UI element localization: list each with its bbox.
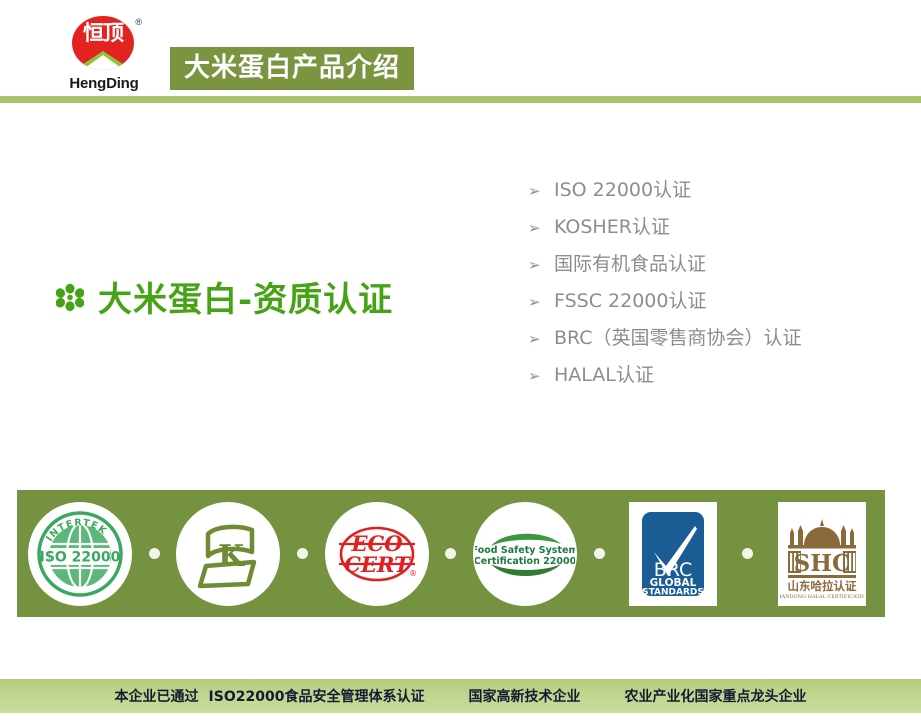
certification-badge-band: ISO 22000 INTERTEK K — [17, 490, 885, 617]
brc-global-standards-badge: BRC GLOBAL STANDARDS — [629, 502, 717, 606]
kosher-letter-k: K — [218, 539, 245, 574]
fssc-line1: Food Safety System — [475, 545, 575, 556]
dot-separator-icon — [588, 548, 610, 559]
certification-label: ISO 22000认证 — [554, 172, 691, 209]
list-item: ➢ FSSC 22000认证 — [528, 283, 898, 320]
fssc-22000-badge: Food Safety System Certification 22000 — [473, 502, 577, 606]
footer-item-3: 农业产业化国家重点龙头企业 — [624, 686, 806, 706]
logo-wordmark: HengDing — [52, 75, 156, 92]
page-title: 大米蛋白产品介绍 — [184, 47, 400, 90]
dot-separator-icon — [292, 548, 314, 559]
footer-item-2: 国家高新技术企业 — [468, 686, 580, 706]
certification-label: 国际有机食品认证 — [554, 246, 706, 283]
header-divider — [0, 96, 921, 103]
badge-slot-iso22000: ISO 22000 INTERTEK — [17, 490, 143, 617]
shc-line3: SHANDONG HALAL CERTIFICATION — [780, 594, 864, 600]
badge-slot-ecocert: ECO CERT ® — [314, 490, 440, 617]
dot-separator-icon — [440, 548, 462, 559]
dot-separator-icon — [737, 548, 759, 559]
arrow-bullet-icon: ➢ — [528, 358, 554, 395]
logo-red-circle: 恒顶 — [72, 16, 134, 70]
list-item: ➢ BRC（英国零售商协会）认证 — [528, 320, 898, 357]
footer-item-1: ISO22000食品安全管理体系认证 — [209, 686, 425, 706]
brc-checkmark-icon: BRC GLOBAL STANDARDS — [633, 506, 713, 602]
certification-label: HALAL认证 — [554, 357, 654, 394]
shc-line2: 山东哈拉认证 — [787, 579, 856, 593]
dot-separator-icon — [143, 548, 165, 559]
iso-22000-globe-icon: ISO 22000 INTERTEK — [30, 504, 130, 604]
logo-mountain-white-icon — [82, 55, 124, 70]
ecocert-registered-mark: ® — [409, 569, 417, 578]
kosher-k-badge: K — [176, 502, 280, 606]
fssc-line2: Certification 22000 — [475, 556, 575, 567]
arrow-bullet-icon: ➢ — [528, 321, 554, 358]
section-heading-label: 大米蛋白-资质认证 — [98, 272, 393, 321]
shc-line1: SHC — [793, 550, 850, 577]
registered-trademark-icon: ® — [135, 18, 142, 27]
ecocert-line2: CERT — [344, 552, 411, 577]
certification-label: BRC（英国零售商协会）认证 — [554, 320, 802, 357]
footer-item-0: 本企业已通过 — [115, 686, 199, 706]
iso-22000-text: ISO 22000 — [40, 549, 121, 565]
brand-logo: 恒顶 ® HengDing — [52, 16, 156, 92]
iso-22000-intertek-badge: ISO 22000 INTERTEK — [28, 502, 132, 606]
list-item: ➢ KOSHER认证 — [528, 209, 898, 246]
list-item: ➢ 国际有机食品认证 — [528, 246, 898, 283]
ecocert-badge: ECO CERT ® — [325, 502, 429, 606]
page-title-banner: 大米蛋白产品介绍 — [170, 47, 414, 90]
arrow-bullet-icon: ➢ — [528, 247, 554, 284]
fssc-arcs-icon: Food Safety System Certification 22000 — [475, 504, 575, 604]
badge-slot-fssc: Food Safety System Certification 22000 — [462, 490, 588, 617]
arrow-bullet-icon: ➢ — [528, 173, 554, 210]
arrow-bullet-icon: ➢ — [528, 210, 554, 247]
list-item: ➢ HALAL认证 — [528, 357, 898, 394]
logo-hanzi-text: 恒顶 — [72, 21, 134, 45]
brc-line3: STANDARDS — [643, 587, 705, 597]
page-footer: 本企业已通过 ISO22000食品安全管理体系认证 国家高新技术企业 农业产业化… — [0, 679, 921, 713]
list-item: ➢ ISO 22000认证 — [528, 172, 898, 209]
certification-label: FSSC 22000认证 — [554, 283, 706, 320]
shc-shandong-halal-badge: SHC 山东哈拉认证 SHANDONG HALAL CERTIFICATION — [778, 502, 866, 606]
kosher-scroll-icon: K — [178, 504, 278, 604]
page-header: 恒顶 ® HengDing 大米蛋白产品介绍 — [0, 0, 921, 96]
badge-slot-brc: BRC GLOBAL STANDARDS — [610, 490, 736, 617]
section-heading: 大米蛋白-资质认证 — [56, 272, 393, 321]
flower-icon — [56, 283, 84, 311]
hengding-logo-icon: 恒顶 ® — [63, 16, 145, 74]
badge-slot-shc: SHC 山东哈拉认证 SHANDONG HALAL CERTIFICATION — [759, 490, 885, 617]
shc-mosque-icon: SHC 山东哈拉认证 SHANDONG HALAL CERTIFICATION — [780, 505, 864, 603]
certification-list: ➢ ISO 22000认证 ➢ KOSHER认证 ➢ 国际有机食品认证 ➢ FS… — [528, 172, 898, 394]
badge-slot-kosher: K — [165, 490, 291, 617]
certification-label: KOSHER认证 — [554, 209, 670, 246]
ecocert-oval-icon: ECO CERT ® — [327, 504, 427, 604]
arrow-bullet-icon: ➢ — [528, 284, 554, 321]
